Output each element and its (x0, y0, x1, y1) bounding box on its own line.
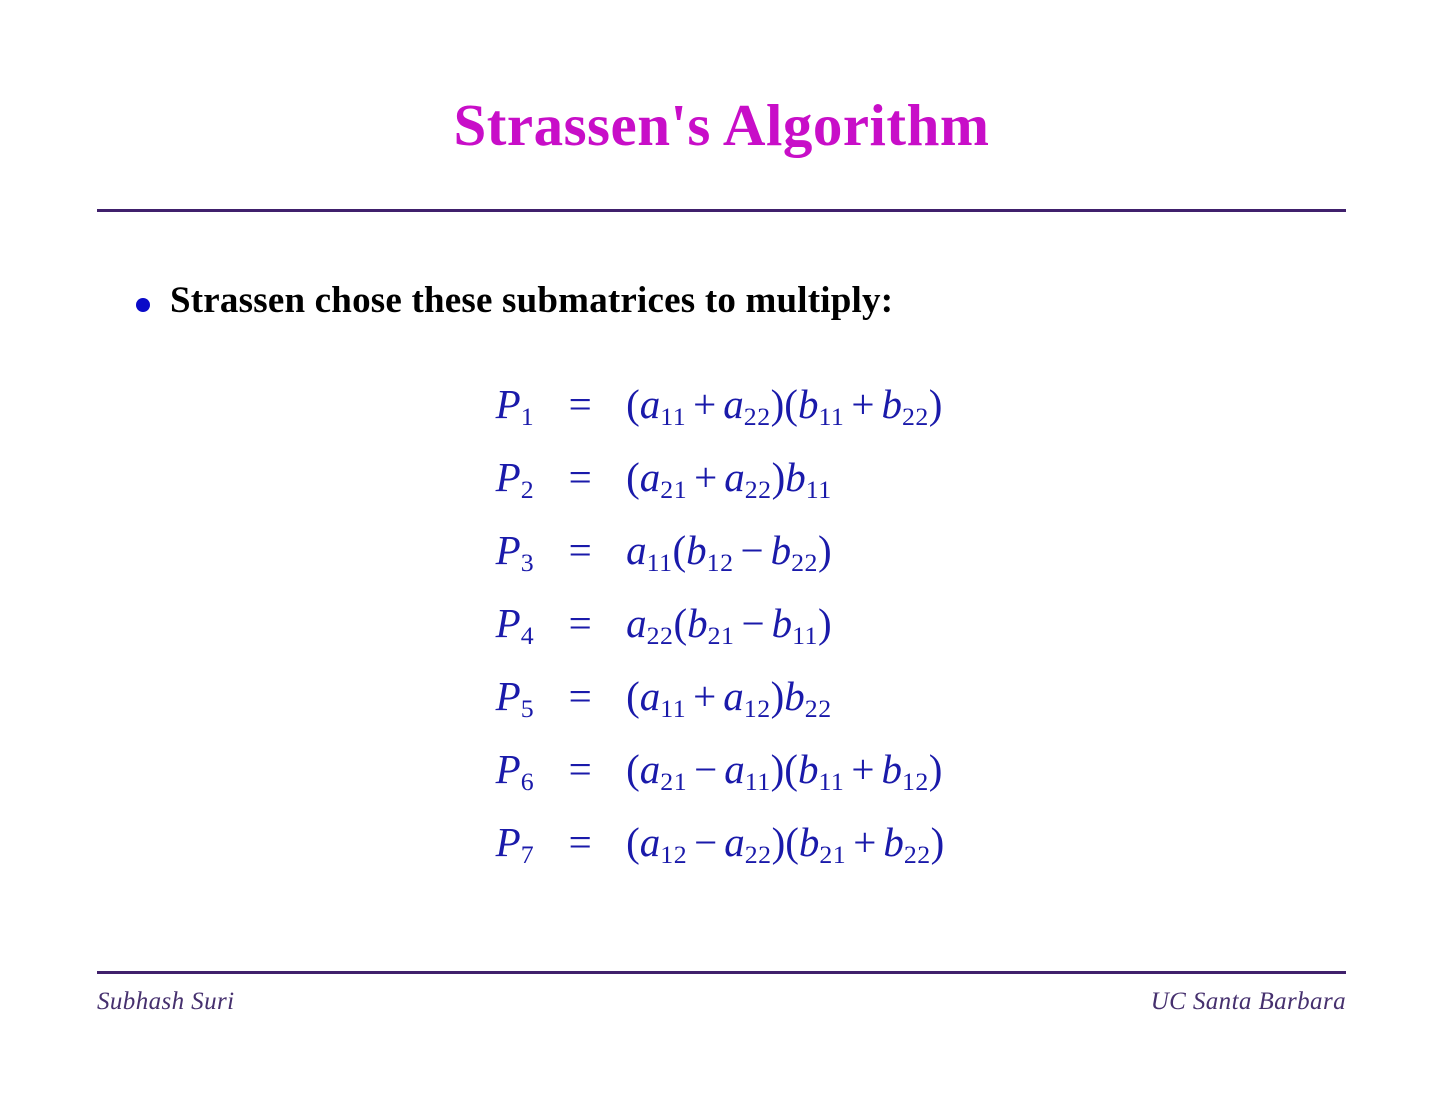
equation-lhs: P2 (496, 441, 534, 514)
equation-row: P2=(a21+a22)b11 (496, 441, 945, 514)
equation-relation: = (534, 441, 626, 514)
equation-relation: = (534, 587, 626, 660)
footer-author: Subhash Suri (97, 988, 234, 1016)
equation-rhs: (a12−a22)(b21+b22) (626, 806, 944, 879)
equation-lhs: P7 (496, 806, 534, 879)
equation-table: P1=(a11+a22)(b11+b22)P2=(a21+a22)b11P3=a… (496, 368, 945, 879)
equation-rhs: a22(b21−b11) (626, 587, 944, 660)
equation-relation: = (534, 660, 626, 733)
header-divider (97, 209, 1346, 212)
equation-row: P6=(a21−a11)(b11+b12) (496, 733, 945, 806)
equation-rhs: (a21−a11)(b11+b12) (626, 733, 944, 806)
equation-relation: = (534, 368, 626, 441)
bullet-dot-icon (136, 298, 150, 312)
page-title: Strassen's Algorithm (97, 96, 1346, 155)
equation-relation: = (534, 514, 626, 587)
equation-relation: = (534, 733, 626, 806)
equation-lhs: P5 (496, 660, 534, 733)
bullet-item-label: Strassen chose these submatrices to mult… (170, 282, 893, 321)
slide: Strassen's Algorithm Strassen chose thes… (0, 0, 1440, 1113)
equation-row: P7=(a12−a22)(b21+b22) (496, 806, 945, 879)
equation-row: P1=(a11+a22)(b11+b22) (496, 368, 945, 441)
equation-row: P3=a11(b12−b22) (496, 514, 945, 587)
equation-rhs: (a21+a22)b11 (626, 441, 944, 514)
equation-lhs: P4 (496, 587, 534, 660)
bullet-item: Strassen chose these submatrices to mult… (136, 282, 893, 321)
equation-rhs: a11(b12−b22) (626, 514, 944, 587)
equation-lhs: P3 (496, 514, 534, 587)
equation-lhs: P6 (496, 733, 534, 806)
footer-divider (97, 971, 1346, 974)
equation-list: P1=(a11+a22)(b11+b22)P2=(a21+a22)b11P3=a… (0, 368, 1440, 879)
footer-institution: UC Santa Barbara (1151, 988, 1346, 1016)
equation-rhs: (a11+a22)(b11+b22) (626, 368, 944, 441)
equation-lhs: P1 (496, 368, 534, 441)
equation-relation: = (534, 806, 626, 879)
equation-rhs: (a11+a12)b22 (626, 660, 944, 733)
equation-row: P4=a22(b21−b11) (496, 587, 945, 660)
equation-row: P5=(a11+a12)b22 (496, 660, 945, 733)
footer: Subhash Suri UC Santa Barbara (97, 988, 1346, 1016)
